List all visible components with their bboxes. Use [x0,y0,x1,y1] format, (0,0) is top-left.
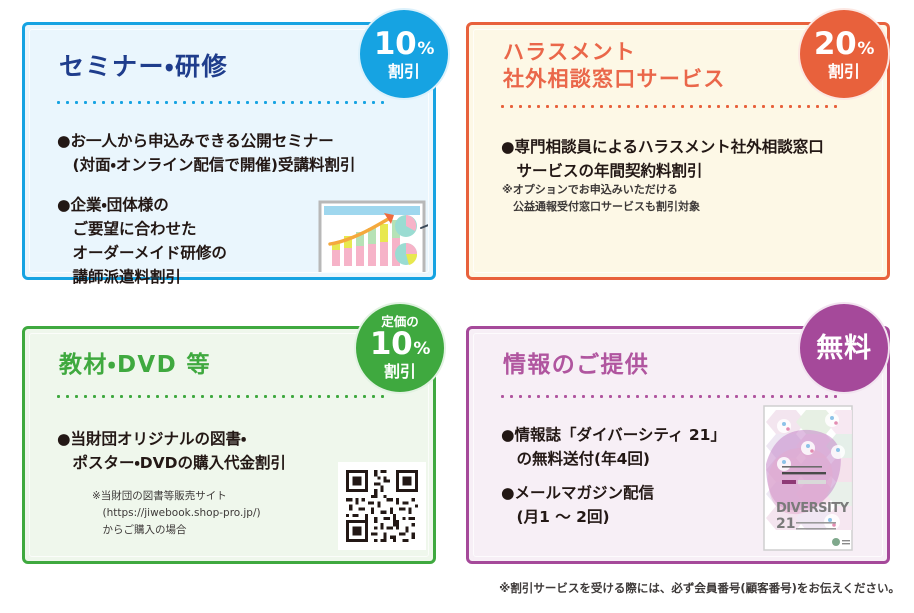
card-harassment-bullet-1: ●専門相談員によるハラスメント社外相談窓口 サービスの年間契約料割引 [501,135,824,184]
card-information-bullet-2: ●メールマガジン配信 (月1 〜 2回) [501,481,654,530]
card-harassment-divider [501,105,839,108]
badge-seminar-discount: 10 % 割引 [358,8,450,100]
badge-harassment-discount: 20 % 割引 [798,8,890,100]
magazine-cover-image: DIVERSITY 21 [762,404,854,552]
card-harassment-title: ハラスメント 社外相談窓口サービス [503,39,726,93]
badge-harassment-percent: % [857,41,874,58]
badge-information-free: 無料 [798,302,890,394]
card-information-bullet-1: ●情報誌「ダイバーシティ 21」 の無料送付(年4回) [501,423,726,472]
badge-seminar-number: 10 [374,29,417,60]
badge-harassment-number: 20 [814,29,857,60]
discount-services-panel: セミナー・研修 ●お一人から申込みできる公開セミナー (対面・オンライン配信で開… [0,0,914,613]
badge-harassment-number-row: 20 % [814,29,874,60]
badge-harassment-sub: 割引 [828,64,860,80]
badge-material-sub: 割引 [384,364,416,380]
card-material-divider [57,395,387,398]
card-material-fineprint: ※当財団の図書等販売サイト (https://jiwebook.shop-pro… [92,488,261,539]
card-harassment-note: ※オプションでお申込みいただける 公益通報受付窓口サービスも割引対象 [502,182,700,215]
qr-code-icon [343,467,421,545]
footer-note: ※割引サービスを受ける際には、必ず会員番号(顧客番号)をお伝えください。 [454,580,900,596]
badge-material-discount: 定価の 10 % 割引 [354,302,446,394]
card-seminar-bullet-2: ●企業・団体様の ご要望に合わせた オーダーメイド研修の 講師派遣料割引 [57,193,227,289]
badge-information-free-label: 無料 [816,335,872,362]
card-material-title: 教材・DVD 等 [59,351,211,380]
svg-text:DIVERSITY: DIVERSITY [776,501,850,516]
qr-code[interactable] [338,462,426,550]
card-information-title: 情報のご提供 [503,351,649,380]
card-seminar-title: セミナー・研修 [59,51,228,83]
badge-seminar-sub: 割引 [388,64,420,80]
badge-material-number-row: 10 % [370,329,430,360]
svg-text:21: 21 [776,516,795,532]
magazine-cover: DIVERSITY 21 [762,404,854,552]
seminar-illustration [314,198,429,273]
badge-seminar-percent: % [417,41,434,58]
badge-seminar-number-row: 10 % [374,29,434,60]
badge-material-percent: % [413,341,430,358]
card-seminar-divider [57,101,387,104]
card-material-bullet-1: ●当財団オリジナルの図書・ ポスター・DVDの購入代金割引 [57,427,286,476]
badge-material-number: 10 [370,329,413,360]
card-seminar-bullet-1: ●お一人から申込みできる公開セミナー (対面・オンライン配信で開催)受講料割引 [57,129,355,177]
card-information-divider [501,395,839,398]
